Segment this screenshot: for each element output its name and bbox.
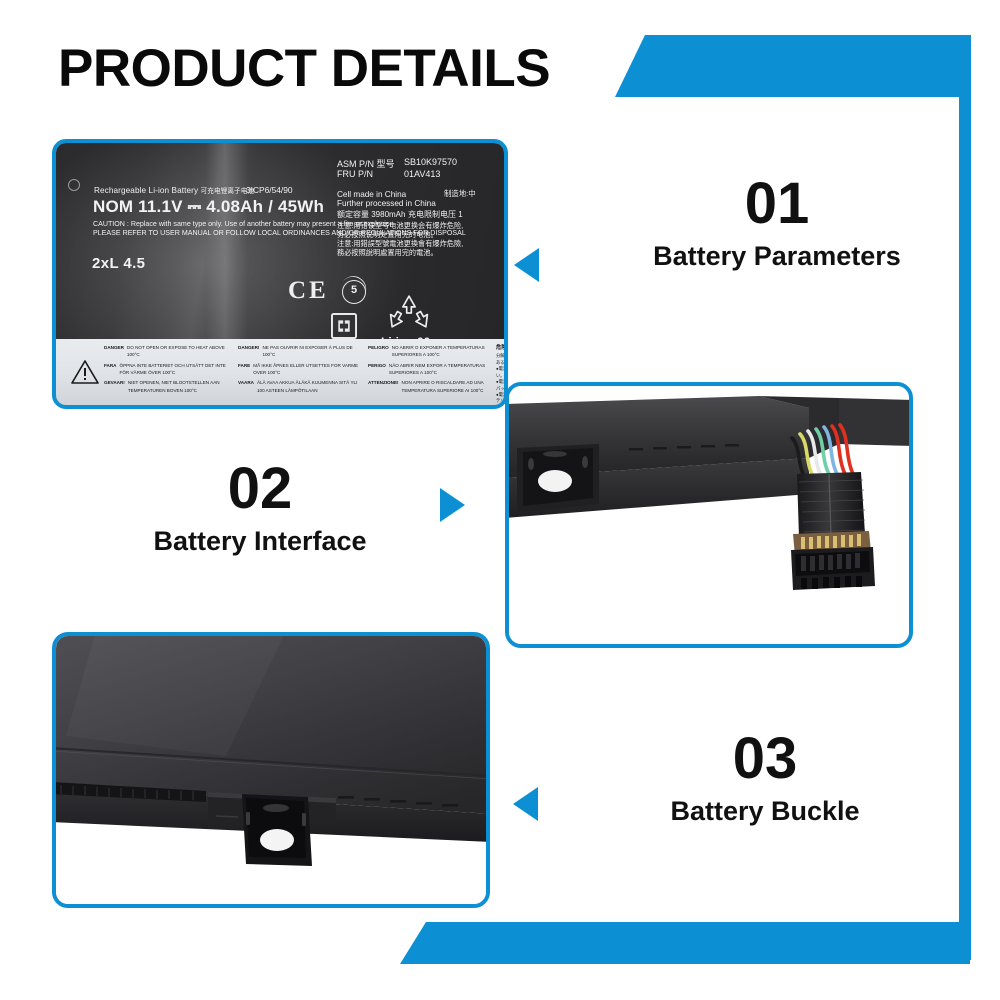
battery-label-photo: Rechargeable Li-ion Battery 可充电锂离子电池 3IC… xyxy=(52,139,508,409)
danger-key: FARE xyxy=(238,362,250,376)
callout-label: Battery Parameters xyxy=(612,241,942,272)
danger-value: DO NOT OPEN OR EXPOSE TO HEAT ABOVE 100°… xyxy=(127,344,234,358)
danger-key: VAARA xyxy=(238,379,254,393)
battery-recycle-icon xyxy=(331,313,357,339)
danger-key: PELIGRO xyxy=(368,344,389,358)
page-title: PRODUCT DETAILS xyxy=(58,38,550,99)
triangle-left-icon xyxy=(514,248,539,282)
capacity-cn: 额定容量 3980mAh xyxy=(337,209,405,220)
danger-key: ATTENZIONE! xyxy=(368,379,399,393)
rechargeable-text: Rechargeable Li-ion Battery 可充电锂离子电池 xyxy=(94,185,254,195)
decorative-band-top xyxy=(615,35,970,97)
fru-pn-key: FRU P/N xyxy=(337,169,373,179)
note-cn-4: 務必按照說明處置用完的電池。 xyxy=(337,248,438,258)
danger-value: NE PAS OUVRIR NI EXPOSER À PLUS DE 100°C xyxy=(262,344,366,358)
nominal-rating: NOM 11.1V ⎓ 4.08Ah / 45Wh xyxy=(93,197,324,217)
callout-number: 01 xyxy=(612,175,942,233)
danger-key-jp: 危険 xyxy=(496,344,508,352)
danger-key: FARA xyxy=(104,362,117,376)
callout-01: 01 Battery Parameters xyxy=(612,175,942,272)
danger-value: NIET OPENEN, NIET BLOOTSTELLEN AAN TEMPE… xyxy=(128,379,234,393)
decorative-band-bottom xyxy=(400,922,970,964)
warning-triangle-icon xyxy=(70,359,100,385)
cell-further-text: Further processed in China xyxy=(337,199,436,208)
battery-interface-photo xyxy=(505,382,913,648)
callout-label: Battery Buckle xyxy=(600,796,930,827)
callout-02: 02 Battery Interface xyxy=(110,460,410,557)
danger-key: DANGER xyxy=(104,344,124,358)
danger-column-2: DANGER!NE PAS OUVRIR NI EXPOSER À PLUS D… xyxy=(238,344,366,397)
danger-value: MÅ IKKE ÅPNES ELLER UTSETTES FOR VARME O… xyxy=(253,362,366,376)
danger-column-3: PELIGRONO ABRIR O EXPONER A TEMPERATURAS… xyxy=(368,344,493,397)
danger-strip: DANGERDO NOT OPEN OR EXPOSE TO HEAT ABOV… xyxy=(56,339,504,405)
triangle-left-icon xyxy=(513,787,538,821)
china-rohs-arrow-icon xyxy=(335,271,372,308)
made-in-cn: 制造地:中 xyxy=(444,188,476,199)
fru-pn-value: 01AV413 xyxy=(404,169,440,179)
callout-number: 02 xyxy=(110,460,410,518)
buckle-illustration xyxy=(56,636,486,904)
interface-illustration xyxy=(509,386,909,644)
voltage-cn: 充电限制电压 1 xyxy=(408,209,463,220)
danger-value: NÃO ABRIR NEM EXPOR A TEMPERATURAS SUPER… xyxy=(389,362,493,376)
danger-value: ÖPPNA INTE BATTERIET OCH UTSÄTT DET INTE… xyxy=(120,362,234,376)
dimension-code: 2xL 4.5 xyxy=(92,255,145,272)
cell-code: 3ICP6/54/90 xyxy=(246,185,293,195)
battery-buckle-photo xyxy=(52,632,490,908)
callout-number: 03 xyxy=(600,730,930,788)
cell-made-text: Cell made in China xyxy=(337,190,406,199)
danger-column-1: DANGERDO NOT OPEN OR EXPOSE TO HEAT ABOV… xyxy=(104,344,234,397)
callout-label: Battery Interface xyxy=(110,526,410,557)
danger-value: ÄLÄ AVAA AKKUA ÄLÄKÄ KUUMENNA SITÄ YLI 1… xyxy=(257,379,366,393)
battery-label-face: Rechargeable Li-ion Battery 可充电锂离子电池 3IC… xyxy=(56,143,504,405)
triangle-right-icon xyxy=(440,488,465,522)
danger-key: DANGER! xyxy=(238,344,259,358)
ce-mark-icon: CE xyxy=(288,277,329,305)
danger-key: GEVAAR! xyxy=(104,379,125,393)
callout-03: 03 Battery Buckle xyxy=(600,730,930,827)
danger-key: PERIGO xyxy=(368,362,386,376)
asm-pn-value: SB10K97570 xyxy=(404,157,457,167)
recycle-arrows-icon xyxy=(386,293,432,333)
decorative-rail-right xyxy=(959,35,971,960)
danger-value: NON APRIRE O RISCALDARE AD UNA TEMPERATU… xyxy=(402,379,493,393)
product-details-page: PRODUCT DETAILS Rechargeable Li-ion Batt… xyxy=(0,0,1000,1000)
danger-value: NO ABRIR O EXPONER A TEMPERATURAS SUPERI… xyxy=(392,344,493,358)
hole-punch-icon xyxy=(68,179,80,191)
